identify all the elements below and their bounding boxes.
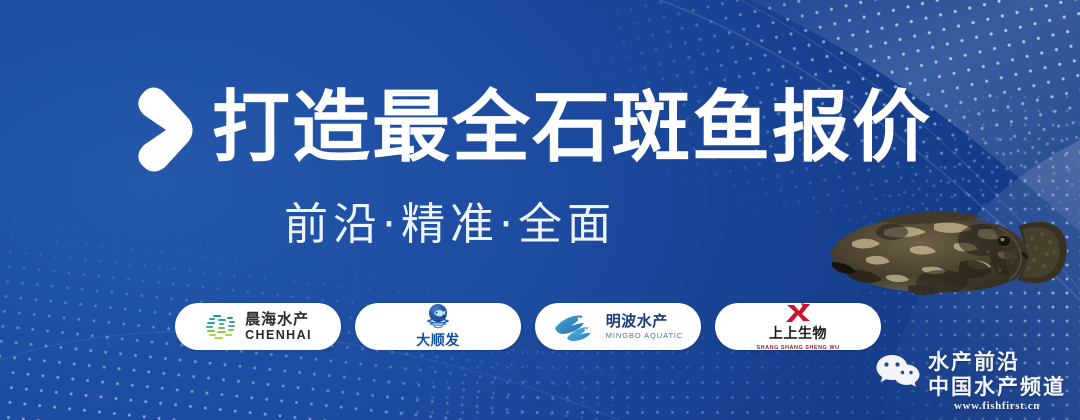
headline-row: 打造最全石斑鱼报价 <box>132 82 932 174</box>
chenhai-text: 晨海水产 CHENHAI <box>245 312 312 342</box>
sponsor-name-en: CHENHAI <box>245 329 312 342</box>
watermark-line-1: 水产前沿 <box>928 352 1066 373</box>
chevron-right-icon <box>132 82 194 174</box>
shangshang-red-mark <box>783 303 813 323</box>
sponsor-name-cn: 上上生物 <box>769 323 827 343</box>
sponsor-logo-dashunfa[interactable]: 大顺发 <box>355 303 521 350</box>
sponsor-name-en: SHANG SHANG SHENG WU <box>756 345 839 351</box>
watermark-line-2: 中国水产频道 <box>928 377 1066 398</box>
sponsor-logo-mingbo[interactable]: 明波水产 MINGBO AQUATIC <box>535 303 701 350</box>
mingbo-twin-fish-mark <box>553 312 599 342</box>
promo-banner: 打造最全石斑鱼报价 前沿·精准·全面 <box>0 0 1080 420</box>
sponsor-name-en: MINGBO AQUATIC <box>606 332 683 340</box>
sponsor-name-cn: 明波水产 <box>606 314 683 329</box>
mingbo-text: 明波水产 MINGBO AQUATIC <box>606 314 683 340</box>
chenhai-circle-mark <box>204 310 238 344</box>
sponsor-logo-chenhai[interactable]: 晨海水产 CHENHAI <box>175 303 341 350</box>
dashunfa-globe-fish-mark <box>423 303 453 329</box>
sponsor-logo-list: 晨海水产 CHENHAI 大顺发 <box>175 303 881 350</box>
page-title: 打造最全石斑鱼报价 <box>212 89 932 167</box>
grouper-photo <box>822 196 1070 306</box>
watermark-url: www.fishfirst.cn <box>928 401 1066 412</box>
channel-watermark: 水产前沿 中国水产频道 www.fishfirst.cn <box>875 352 1066 412</box>
watermark-text: 水产前沿 中国水产频道 www.fishfirst.cn <box>928 352 1066 412</box>
wechat-icon <box>875 352 921 392</box>
sponsor-name-cn: 大顺发 <box>416 330 460 350</box>
sponsor-logo-shangshang[interactable]: 上上生物 SHANG SHANG SHENG WU <box>715 303 881 350</box>
sponsor-name-cn: 晨海水产 <box>245 312 312 327</box>
